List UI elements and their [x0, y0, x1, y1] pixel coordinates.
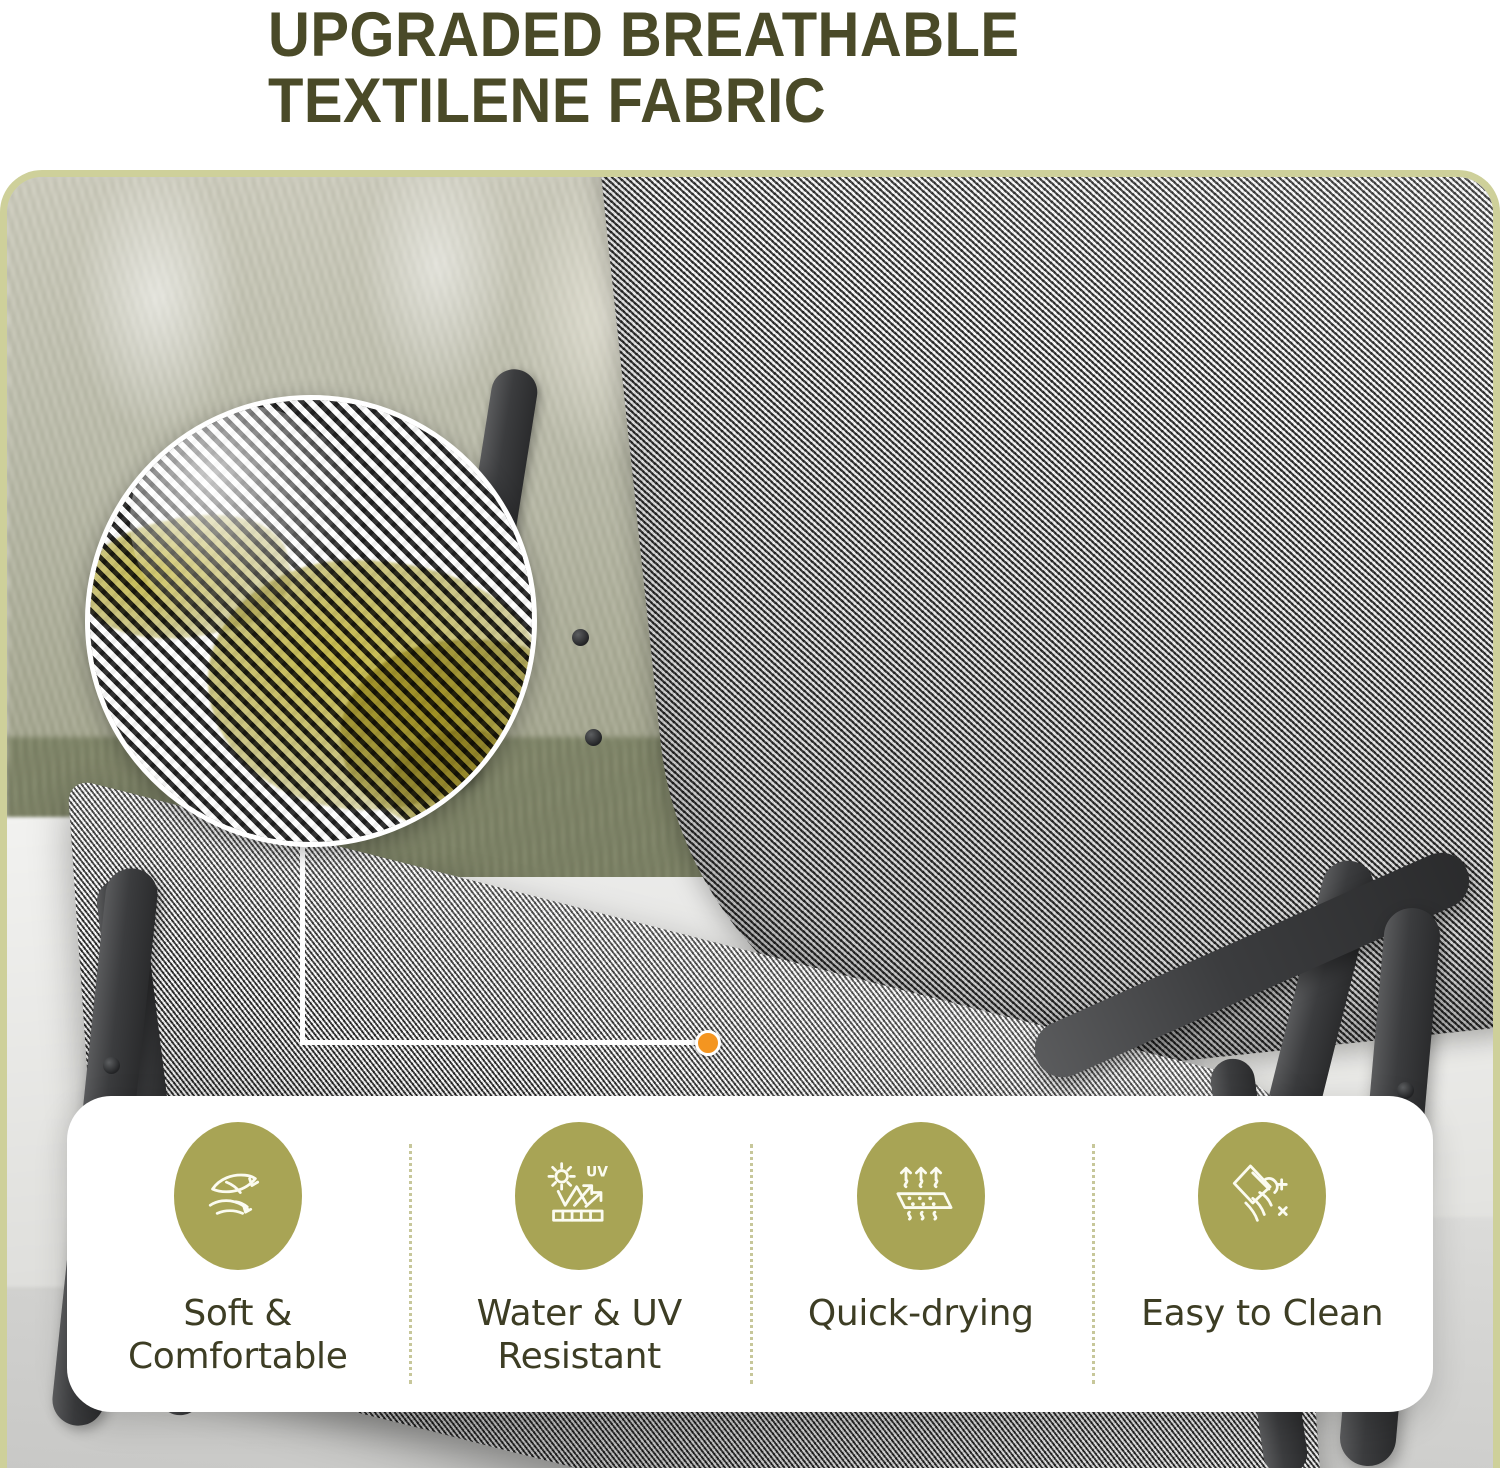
frame-rivet: [103, 1057, 120, 1074]
feature-label: Soft & Comfortable: [128, 1292, 348, 1378]
feature-label: Water & UV Resistant: [477, 1292, 682, 1378]
page-title: UPGRADED BREATHABLE TEXTILENE FABRIC: [268, 2, 1188, 134]
droplet-gloss-highlight: [130, 406, 360, 636]
magnifier-inset: [85, 395, 537, 847]
frame-rivet: [585, 729, 602, 746]
frame-rivet: [572, 629, 589, 646]
feature-soft-comfortable: Soft & Comfortable: [67, 1096, 409, 1412]
cleaning-cloth-sparkle-icon: [1198, 1122, 1326, 1270]
svg-text:UV: UV: [586, 1164, 608, 1180]
feature-highlights-card: Soft & Comfortable UV Water & UV Resista…: [67, 1096, 1433, 1412]
feature-label: Easy to Clean: [1141, 1292, 1383, 1335]
feature-label: Quick-drying: [808, 1292, 1034, 1335]
callout-leader-line: [300, 845, 712, 1045]
airflow-fabric-icon: [857, 1122, 985, 1270]
feature-water-uv-resistant: UV Water & UV Resistant: [409, 1096, 751, 1412]
feature-quick-drying: Quick-drying: [750, 1096, 1092, 1412]
callout-target-dot: [695, 1030, 721, 1056]
leaf-in-hand-icon: [174, 1122, 302, 1270]
feature-easy-to-clean: Easy to Clean: [1092, 1096, 1434, 1412]
liquid-droplet: [390, 730, 537, 840]
sun-uv-reflect-icon: UV: [515, 1122, 643, 1270]
